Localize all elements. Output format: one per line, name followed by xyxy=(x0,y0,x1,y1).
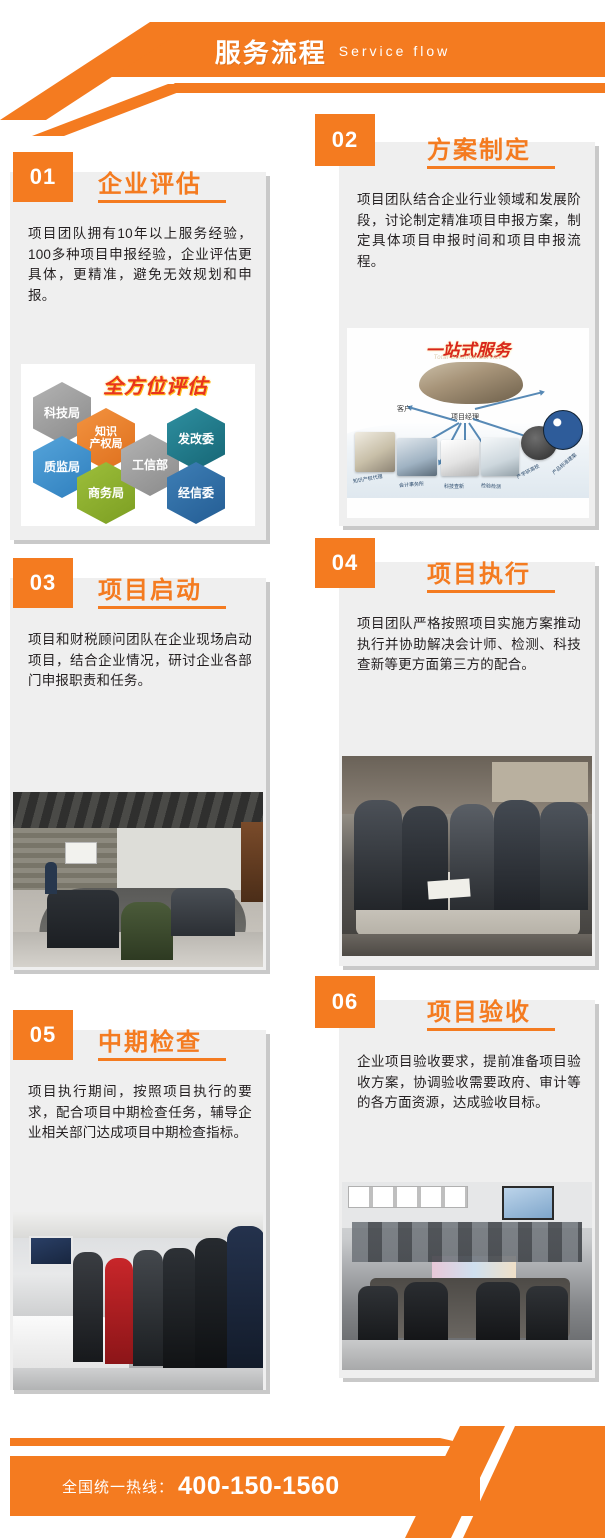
presentation-screen xyxy=(502,1186,554,1220)
step-desc-02: 项目团队结合企业行业领域和发展阶段，讨论制定精准项目申报方案，制定具体项目申报时… xyxy=(357,190,581,272)
one-stop-certification-seal xyxy=(543,410,583,450)
attendee-group-right xyxy=(171,888,235,936)
meeting-window xyxy=(492,762,588,802)
visitor-red-coat xyxy=(105,1258,133,1364)
step-title-04: 项目执行 xyxy=(427,554,531,589)
step-card-06: 06 项目验收 企业项目验收要求，提前准备项目验收方案，协调验收需要政府、审计等… xyxy=(339,1000,601,1382)
attendee-green-coat xyxy=(121,902,173,960)
photo-conference-room xyxy=(13,792,263,967)
wall-wood-panel xyxy=(241,822,263,902)
visitor-5 xyxy=(227,1226,263,1376)
step-title-05: 中期检查 xyxy=(98,1022,202,1057)
participant-a xyxy=(354,800,402,910)
step-card-05: 05 中期检查 项目执行期间，按照项目执行的要求，配合项目中期检查任务，辅导企业… xyxy=(10,1030,272,1394)
visitor-3 xyxy=(163,1248,195,1368)
step-card-04: 04 项目执行 项目团队严格按照项目实施方案推动执行并协助解决会计师、检测、科技… xyxy=(339,562,601,970)
footer-hotline-number[interactable]: 400-150-1560 xyxy=(178,1472,340,1501)
service-flow-poster: 服务流程 Service flow 01 企业评估 项目团队拥有10年以上服务经… xyxy=(0,0,605,1538)
footer-hotline-band: 全国统一热线： 400-150-1560 xyxy=(10,1456,480,1516)
one-stop-node-thumb-1 xyxy=(397,438,437,476)
one-stop-node-thumb-0 xyxy=(355,432,395,472)
wall-display-screens xyxy=(29,1236,73,1266)
step-badge-03: 03 xyxy=(13,558,73,608)
lobby-floor xyxy=(13,1368,263,1390)
chair-4 xyxy=(526,1286,568,1344)
one-stop-subtitle: Total Solution Service xyxy=(347,355,589,361)
step-title-03: 项目启动 xyxy=(98,570,202,605)
page-title-en: Service flow xyxy=(339,43,450,59)
wall-right-white xyxy=(117,828,241,890)
one-stop-node-label-3: 检验检测 xyxy=(481,482,501,490)
photo-team-meeting xyxy=(342,756,592,956)
step-title-02: 方案制定 xyxy=(427,130,531,165)
chair-1 xyxy=(358,1286,398,1344)
visitor-2 xyxy=(133,1250,163,1366)
page-title: 服务流程 Service flow xyxy=(0,28,605,74)
page-header: 服务流程 Service flow xyxy=(0,0,605,120)
step-card-02: 02 方案制定 项目团队结合企业行业领域和发展阶段，讨论制定精准项目申报方案，制… xyxy=(339,142,601,530)
one-stop-service-chart: 一站式服务 Total Solution Service 客户 项目经理 xyxy=(347,328,589,518)
step-title-rule-01 xyxy=(98,200,226,203)
hexagon-chart-title: 全方位评估 xyxy=(103,370,208,399)
presenter xyxy=(45,862,57,894)
page-title-cn: 服务流程 xyxy=(215,33,327,70)
floor-bottom xyxy=(342,934,592,956)
page-footer: 全国统一热线： 400-150-1560 xyxy=(0,1398,605,1538)
step-desc-04: 项目团队严格按照项目实施方案推动执行并协助解决会计师、检测、科技查新等更方面第三… xyxy=(357,614,581,676)
step-title-rule-03 xyxy=(98,606,226,609)
chair-2 xyxy=(404,1282,448,1344)
attendee-group-left xyxy=(47,890,119,948)
hexagon-assessment-chart: 全方位评估 科技局 知识 产权局 质监局 商务局 工信部 发改委 经信委 xyxy=(21,364,255,526)
step-badge-04: 04 xyxy=(315,538,375,588)
step-title-06: 项目验收 xyxy=(427,992,531,1027)
whiteboard xyxy=(65,842,97,864)
certificate-frames xyxy=(348,1186,468,1208)
one-stop-node-thumb-3 xyxy=(481,438,519,476)
participant-d xyxy=(494,800,540,910)
chair-3 xyxy=(476,1282,520,1344)
visitor-4 xyxy=(195,1238,231,1372)
documents-on-table xyxy=(427,879,470,900)
ceiling-panel xyxy=(13,792,263,828)
step-badge-02: 02 xyxy=(315,114,375,166)
step-desc-05: 项目执行期间，按照项目执行的要求，配合项目中期检查任务，辅导企业相关部门达成项目… xyxy=(28,1082,252,1144)
step-desc-06: 企业项目验收要求，提前准备项目验收方案，协调验收需要政府、审计等的各方面资源，达… xyxy=(357,1052,581,1114)
footer-hotline-label: 全国统一热线： xyxy=(62,1476,174,1497)
lobby-ceiling xyxy=(13,1212,263,1238)
footer-hotline: 全国统一热线： 400-150-1560 xyxy=(10,1456,480,1516)
photo-site-visit xyxy=(13,1212,263,1390)
photo-acceptance-meeting xyxy=(342,1182,592,1370)
step-title-rule-05 xyxy=(98,1058,226,1061)
step-badge-06: 06 xyxy=(315,976,375,1028)
one-stop-node-label-2: 科技查新 xyxy=(444,483,464,490)
visitor-1 xyxy=(73,1252,103,1362)
step-desc-01: 项目团队拥有10年以上服务经验，100多种项目申报经验，企业评估更具体，更精准，… xyxy=(28,224,252,306)
step-badge-05: 05 xyxy=(13,1010,73,1060)
one-stop-node-thumb-2 xyxy=(441,440,479,476)
step-title-rule-06 xyxy=(427,1028,555,1031)
step-badge-01: 01 xyxy=(13,152,73,202)
one-stop-hero-photo xyxy=(419,362,523,404)
step-title-rule-02 xyxy=(427,166,555,169)
step-desc-03: 项目和财税顾问团队在企业现场启动项目，结合企业情况，研讨企业各部门申报职责和任务… xyxy=(28,630,252,692)
step-title-rule-04 xyxy=(427,590,555,593)
participant-e xyxy=(540,802,588,910)
step-card-01: 01 企业评估 项目团队拥有10年以上服务经验，100多种项目申报经验，企业评估… xyxy=(10,172,272,544)
step-title-01: 企业评估 xyxy=(98,164,202,199)
meeting-floor xyxy=(342,1340,592,1370)
step-card-03: 03 项目启动 项目和财税顾问团队在企业现场启动项目，结合企业情况，研讨企业各部… xyxy=(10,578,272,974)
attendee-row-back xyxy=(352,1222,582,1262)
